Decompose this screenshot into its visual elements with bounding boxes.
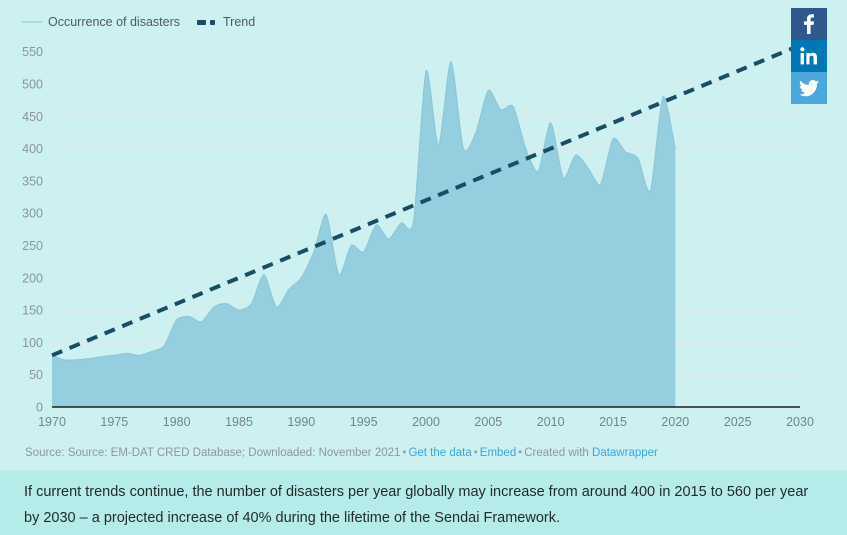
- x-axis-tick-label: 2000: [412, 415, 440, 429]
- x-axis-labels-group: 1970197519801985199019952000200520102015…: [38, 415, 814, 429]
- linkedin-share-button[interactable]: [791, 40, 827, 72]
- caption-text: If current trends continue, the number o…: [24, 479, 824, 531]
- y-axis-tick-label: 100: [22, 336, 43, 350]
- y-axis-tick-label: 0: [36, 401, 43, 415]
- legend-label-occurrence: Occurrence of disasters: [48, 15, 180, 29]
- x-axis-tick-label: 1975: [100, 415, 128, 429]
- x-axis-tick-label: 1985: [225, 415, 253, 429]
- chart-legend: Occurrence of disasters Trend: [22, 12, 255, 32]
- y-axis-tick-label: 550: [22, 45, 43, 59]
- get-the-data-link[interactable]: Get the data: [408, 447, 471, 459]
- legend-line-swatch-icon: [22, 21, 42, 23]
- y-axis-tick-label: 50: [29, 368, 43, 382]
- legend-dash-swatch-icon: [197, 20, 217, 25]
- x-axis-tick-label: 2005: [474, 415, 502, 429]
- y-axis-tick-label: 250: [22, 239, 43, 253]
- chart-page: Occurrence of disasters Trend 0501001502…: [0, 0, 847, 535]
- x-axis-tick-label: 1990: [287, 415, 315, 429]
- x-axis-tick-label: 1970: [38, 415, 66, 429]
- y-axis-tick-label: 300: [22, 207, 43, 221]
- y-axis-labels-group: 050100150200250300350400450500550: [22, 45, 43, 414]
- twitter-share-button[interactable]: [791, 72, 827, 104]
- source-line: Source: Source: EM-DAT CRED Database; Do…: [25, 447, 658, 459]
- x-axis-tick-label: 2015: [599, 415, 627, 429]
- x-axis-tick-label: 1995: [350, 415, 378, 429]
- legend-label-trend: Trend: [223, 15, 255, 29]
- x-axis-tick-label: 2010: [537, 415, 565, 429]
- facebook-icon: [804, 14, 814, 34]
- facebook-share-button[interactable]: [791, 8, 827, 40]
- x-axis-tick-label: 1980: [163, 415, 191, 429]
- x-axis-tick-label: 2025: [724, 415, 752, 429]
- x-axis-tick-label: 2020: [661, 415, 689, 429]
- y-axis-tick-label: 200: [22, 271, 43, 285]
- y-axis-tick-label: 350: [22, 174, 43, 188]
- source-separator-2: •: [472, 447, 480, 459]
- chart-card: Occurrence of disasters Trend 0501001502…: [0, 0, 847, 470]
- datawrapper-link[interactable]: Datawrapper: [592, 447, 658, 459]
- social-share-buttons: [791, 8, 827, 104]
- embed-link[interactable]: Embed: [480, 447, 516, 459]
- series-area-occurrence: [52, 61, 675, 407]
- chart-svg: 050100150200250300350400450500550 197019…: [0, 34, 847, 434]
- plot-area: 050100150200250300350400450500550 197019…: [0, 34, 847, 434]
- y-axis-tick-label: 150: [22, 304, 43, 318]
- source-text: Source: Source: EM-DAT CRED Database; Do…: [25, 447, 400, 459]
- linkedin-icon: [800, 47, 818, 65]
- y-axis-tick-label: 500: [22, 77, 43, 91]
- y-axis-tick-label: 450: [22, 110, 43, 124]
- legend-item-occurrence[interactable]: Occurrence of disasters: [22, 15, 180, 29]
- y-axis-tick-label: 400: [22, 142, 43, 156]
- caption-band: If current trends continue, the number o…: [0, 470, 847, 535]
- legend-item-trend[interactable]: Trend: [197, 15, 255, 29]
- x-axis-tick-label: 2030: [786, 415, 814, 429]
- created-with-text: Created with: [524, 447, 589, 459]
- twitter-icon: [799, 80, 819, 97]
